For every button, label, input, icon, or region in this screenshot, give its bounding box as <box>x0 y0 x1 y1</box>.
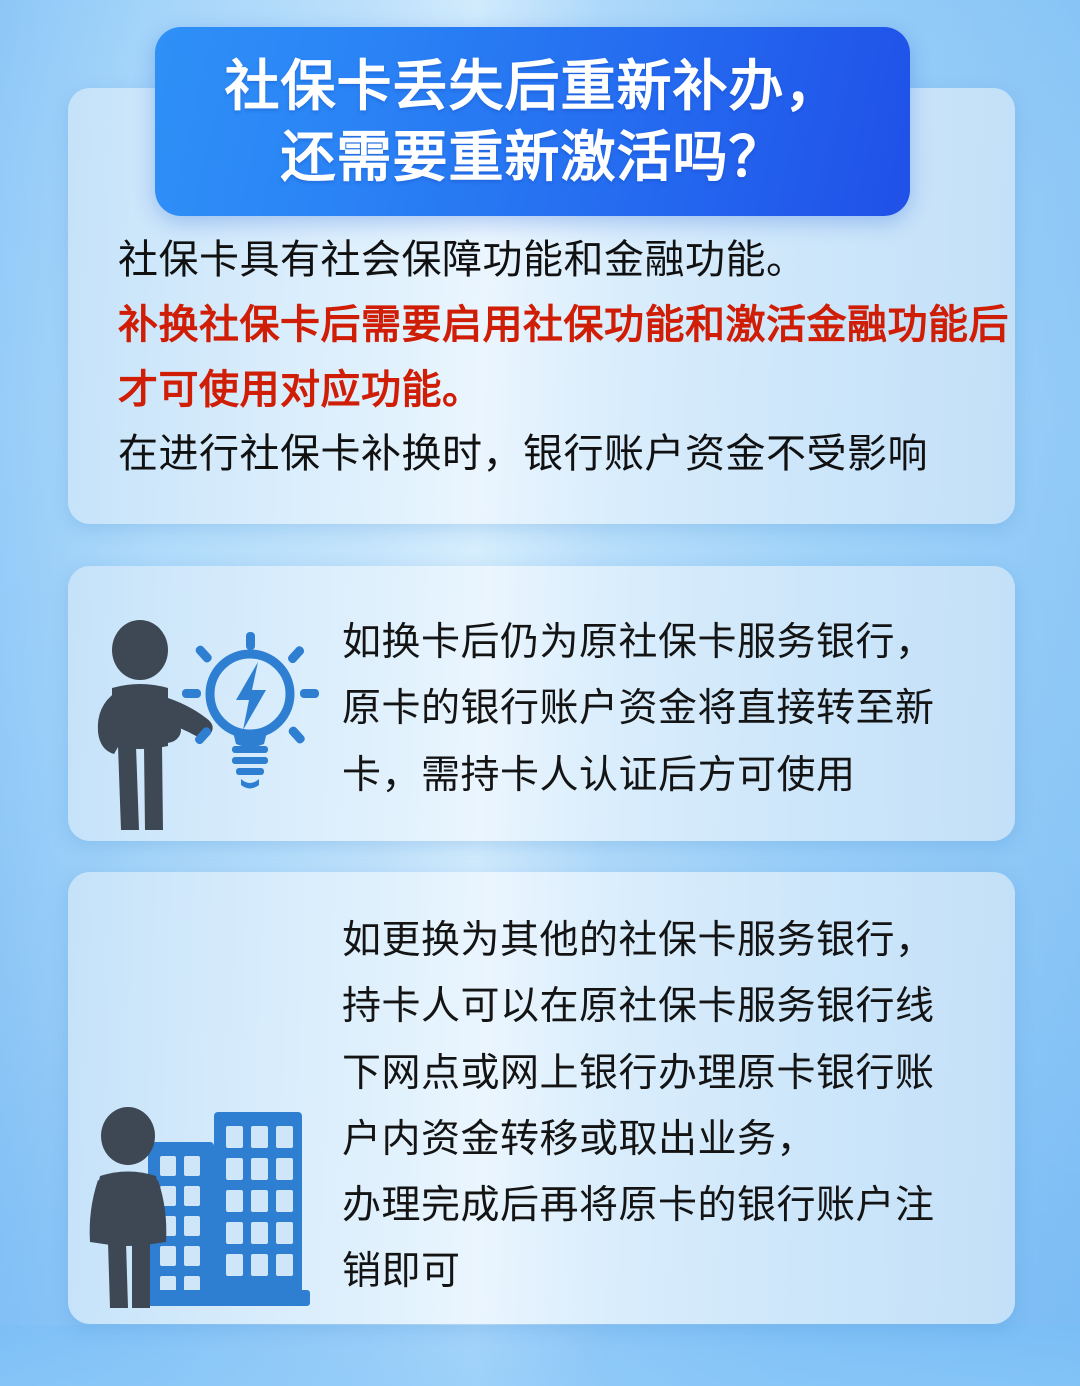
same-bank-line-1: 如换卡后仍为原社保卡服务银行， <box>342 610 985 676</box>
intro-text-block: 社保卡具有社会保障功能和金融功能。 补换社保卡后需要启用社保功能和激活金融功能后… <box>118 228 991 487</box>
intro-line-2-highlight: 补换社保卡后需要启用社保功能和激活金融功能后 <box>118 293 991 358</box>
other-bank-line-1: 如更换为其他的社保卡服务银行， <box>342 908 985 974</box>
other-bank-line-5: 办理完成后再将原卡的银行账户注 <box>342 1173 985 1239</box>
same-bank-line-3: 卡，需持卡人认证后方可使用 <box>342 743 985 809</box>
lightbulb-person-icon <box>86 618 326 833</box>
other-bank-text-block: 如更换为其他的社保卡服务银行， 持卡人可以在原社保卡服务银行线 下网点或网上银行… <box>342 908 985 1306</box>
intro-line-3-highlight: 才可使用对应功能。 <box>118 358 991 423</box>
same-bank-text-block: 如换卡后仍为原社保卡服务银行， 原卡的银行账户资金将直接转至新 卡，需持卡人认证… <box>342 610 985 809</box>
other-bank-line-2: 持卡人可以在原社保卡服务银行线 <box>342 974 985 1040</box>
card-other-bank: 如更换为其他的社保卡服务银行， 持卡人可以在原社保卡服务银行线 下网点或网上银行… <box>68 872 1015 1324</box>
title-banner: 社保卡丢失后重新补办， 还需要重新激活吗？ <box>155 27 910 216</box>
intro-line-1: 社保卡具有社会保障功能和金融功能。 <box>118 228 991 293</box>
intro-line-4: 在进行社保卡补换时，银行账户资金不受影响 <box>118 422 991 487</box>
title-line-2: 还需要重新激活吗？ <box>280 122 784 192</box>
page-background-bottom-band <box>0 1325 1080 1386</box>
other-bank-line-4: 户内资金转移或取出业务， <box>342 1107 985 1173</box>
other-bank-line-3: 下网点或网上银行办理原卡银行账 <box>342 1041 985 1107</box>
title-line-1: 社保卡丢失后重新补办， <box>224 51 840 121</box>
card-same-bank: 如换卡后仍为原社保卡服务银行， 原卡的银行账户资金将直接转至新 卡，需持卡人认证… <box>68 566 1015 841</box>
other-bank-line-6: 销即可 <box>342 1239 985 1305</box>
buildings-person-icon <box>86 1094 326 1312</box>
same-bank-line-2: 原卡的银行账户资金将直接转至新 <box>342 676 985 742</box>
